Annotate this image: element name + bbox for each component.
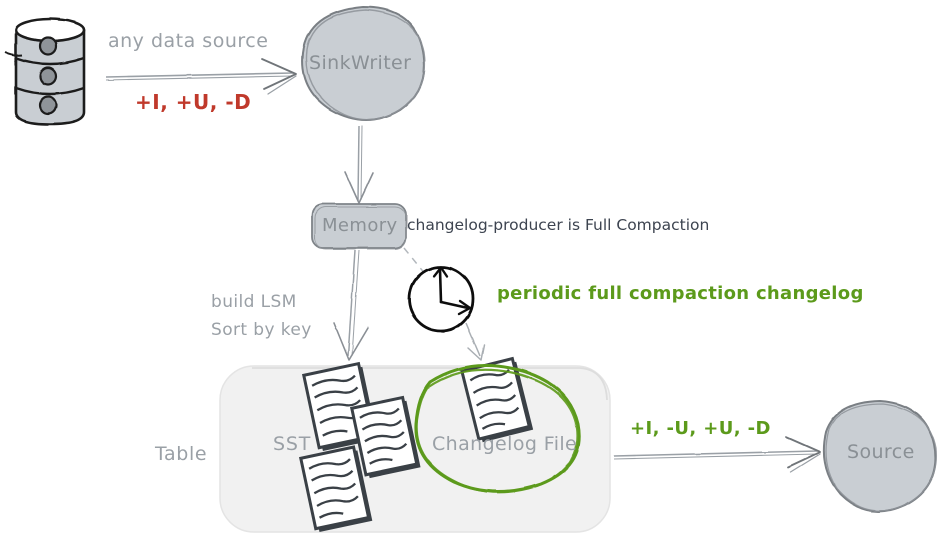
edge-label-changes-in: +I, +U, -D (135, 90, 251, 114)
node-label-sinkwriter: SinkWriter (309, 52, 411, 74)
edge-clock-to-changelogfile (466, 323, 484, 360)
node-label-memory: Memory (322, 215, 398, 236)
edge-label-any-data-source: any data source (108, 30, 268, 52)
edge-label-changes-out: +I, -U, +U, -D (630, 418, 771, 439)
node-label-changelog-file: Changelog File (432, 433, 577, 455)
note-periodic-full-compaction: periodic full compaction changelog (497, 283, 864, 304)
node-label-sst: SST (273, 433, 311, 455)
edge-label-sort-by-key: Sort by key (211, 320, 312, 340)
edge-changelogfile-to-source (614, 437, 820, 472)
edge-label-build-lsm: build LSM (211, 292, 297, 312)
note-changelog-producer: changelog-producer is Full Compaction (407, 216, 709, 234)
clock-icon (409, 267, 473, 331)
database-icon (5, 19, 84, 124)
diagram-canvas: any data source +I, +U, -D SinkWriter Me… (0, 0, 950, 548)
node-label-source: Source (847, 441, 915, 463)
edge-datasource-to-sinkwriter (106, 59, 296, 94)
edge-sinkwriter-to-memory (345, 126, 373, 203)
diagram-vector-layer (0, 0, 950, 548)
node-label-table: Table (155, 443, 207, 465)
edge-memory-to-table (334, 250, 368, 360)
